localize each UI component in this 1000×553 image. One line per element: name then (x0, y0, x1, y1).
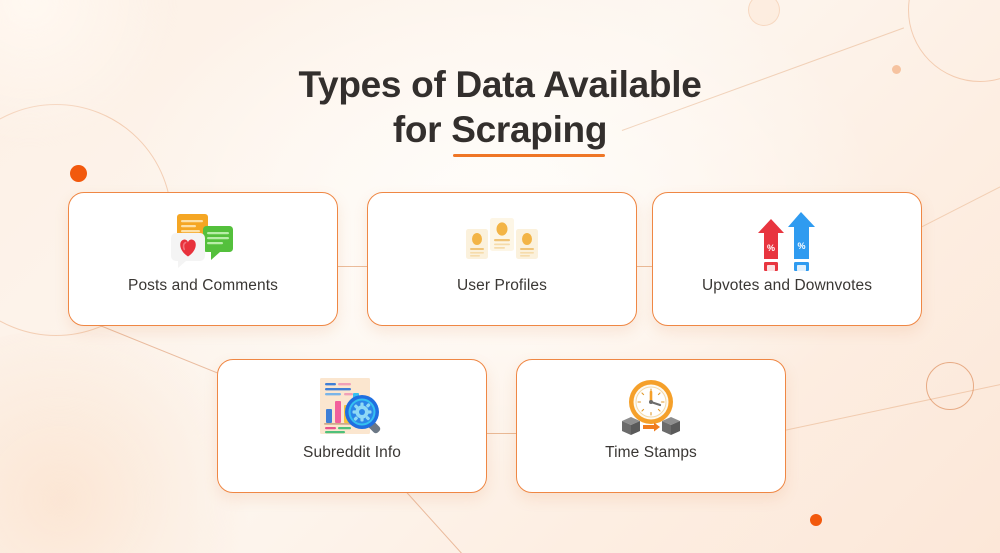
title-line-2: for Scraping (0, 107, 1000, 152)
clock-cubes-arrow-icon-svg (613, 377, 689, 437)
decor-dot-top-center (748, 0, 780, 26)
svg-text:%: % (767, 243, 775, 253)
profile-cards-icon (462, 209, 542, 271)
decor-ring-bottom-right (926, 362, 974, 410)
card-user-profiles[interactable]: User Profiles (367, 192, 637, 326)
decor-line-bottom-mid (405, 490, 493, 553)
card-label: Upvotes and Downvotes (653, 277, 921, 295)
card-posts-and-comments[interactable]: Posts and Comments (68, 192, 338, 326)
decor-dot-bottom-right (810, 514, 822, 526)
cube-right (662, 417, 680, 435)
chart-magnifier-gear-icon (312, 376, 392, 438)
up-arrows-icon: % % (747, 209, 827, 271)
card-label: Subreddit Info (218, 444, 486, 462)
connector-card2-card3 (636, 266, 652, 267)
speech-bubbles-heart-icon-svg (166, 211, 240, 269)
decor-line-right-low (784, 380, 1000, 431)
title-accent-word: Scraping (451, 107, 607, 152)
card-time-stamps[interactable]: Time Stamps (516, 359, 786, 493)
chart-magnifier-gear-icon-svg (316, 376, 388, 438)
card-upvotes-and-downvotes[interactable]: % % Upvotes and Downvotes (652, 192, 922, 326)
title-prefix: for (393, 109, 451, 150)
card-label: User Profiles (368, 277, 636, 295)
decor-dot-left (70, 165, 87, 182)
connector-card4-card5 (484, 433, 516, 434)
card-subreddit-info[interactable]: Subreddit Info (217, 359, 487, 493)
cube-left (622, 417, 640, 435)
title-line-1: Types of Data Available (0, 62, 1000, 107)
profile-cards-icon-svg (464, 215, 540, 265)
speech-bubbles-heart-icon (163, 209, 243, 271)
svg-text:%: % (797, 241, 805, 251)
card-label: Posts and Comments (69, 277, 337, 295)
page-title: Types of Data Available for Scraping (0, 62, 1000, 152)
up-arrows-icon-svg: % % (755, 209, 819, 271)
clock-cubes-arrow-icon (611, 376, 691, 438)
card-label: Time Stamps (517, 444, 785, 462)
infographic-canvas: Types of Data Available for Scraping (0, 0, 1000, 553)
